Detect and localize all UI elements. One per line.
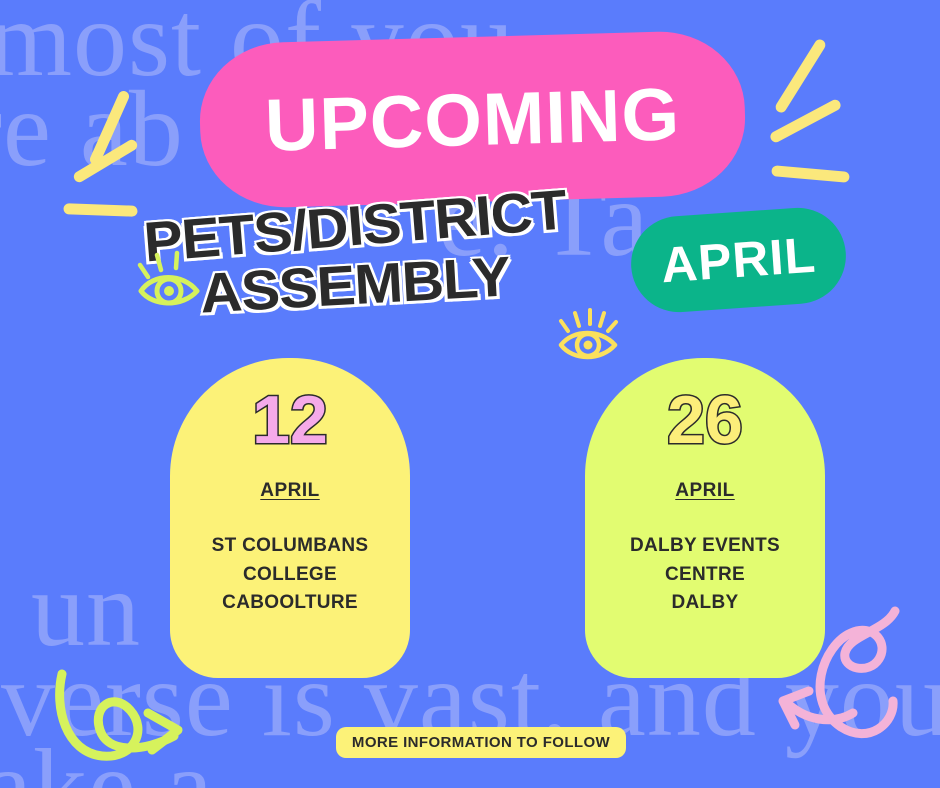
page-title-line-2: ASSEMBLY xyxy=(130,246,579,324)
upcoming-label: UPCOMING xyxy=(264,77,681,163)
background-texture-text: ake a xyxy=(0,726,214,788)
event-venue-line-1: DALBY EVENTS xyxy=(630,535,780,556)
event-venue: ST COLUMBANS COLLEGE CABOOLTURE xyxy=(212,532,369,618)
month-badge-label: APRIL xyxy=(659,230,817,291)
sparkle-ray-icon xyxy=(63,203,137,217)
event-venue-line-1: ST COLUMBANS xyxy=(212,535,369,556)
event-card[interactable]: 26 APRIL DALBY EVENTS CENTRE DALBY xyxy=(585,358,825,678)
sparkle-ray-icon xyxy=(88,89,131,167)
event-day-number: 26 xyxy=(667,386,743,454)
more-info-banner[interactable]: MORE INFORMATION TO FOLLOW xyxy=(336,727,626,758)
poster-canvas: most of you re ab e. Ta s un iverse is v… xyxy=(0,0,940,788)
curly-arrow-icon xyxy=(48,668,210,781)
month-badge: APRIL xyxy=(628,205,849,316)
eye-doodle-icon xyxy=(553,305,625,372)
eye-doodle-icon xyxy=(133,243,207,318)
event-venue-line-2: COLLEGE xyxy=(243,564,337,585)
event-venue-line-3: DALBY xyxy=(672,592,739,613)
background-texture-text: re ab xyxy=(0,68,184,192)
more-info-label: MORE INFORMATION TO FOLLOW xyxy=(352,734,610,751)
sparkle-ray-icon xyxy=(774,37,828,114)
event-card[interactable]: 12 APRIL ST COLUMBANS COLLEGE CABOOLTURE xyxy=(170,358,410,678)
sparkle-ray-icon xyxy=(768,98,842,144)
background-texture-text: s un xyxy=(0,548,141,672)
event-venue-line-3: CABOOLTURE xyxy=(222,592,358,613)
upcoming-banner: UPCOMING xyxy=(198,29,747,209)
event-venue-line-2: CENTRE xyxy=(665,564,745,585)
event-month-label: APRIL xyxy=(260,480,320,502)
sparkle-ray-icon xyxy=(771,165,850,183)
event-month-label: APRIL xyxy=(675,480,735,502)
sparkle-ray-icon xyxy=(72,138,139,185)
event-day-number: 12 xyxy=(252,386,328,454)
event-venue: DALBY EVENTS CENTRE DALBY xyxy=(630,532,780,618)
page-title: PETS/DISTRICT ASSEMBLY xyxy=(140,200,570,311)
